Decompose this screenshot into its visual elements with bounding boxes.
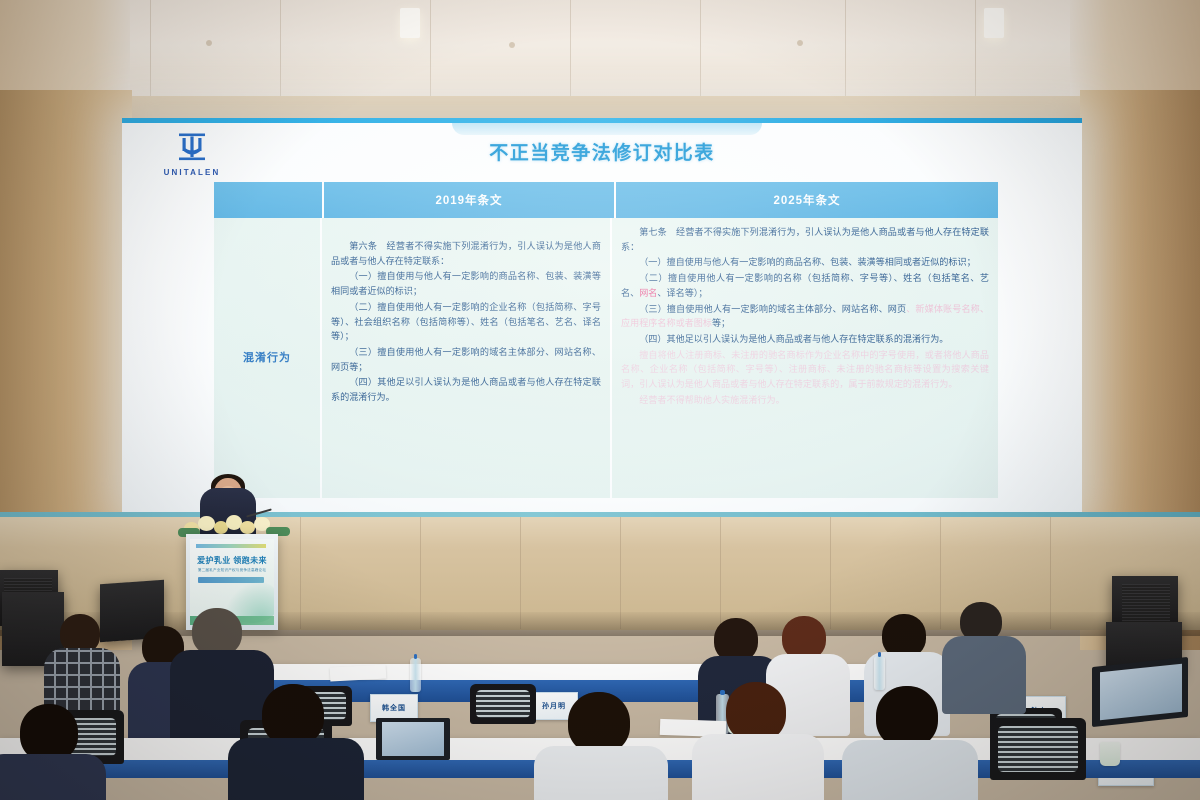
unitalen-wordmark: UNITALEN	[150, 168, 234, 177]
projection-screen: UNITALEN 不正当竞争法修订对比表 2019年条文 2025年条文 混淆行…	[122, 118, 1082, 512]
water-bottle	[410, 658, 421, 692]
slide-top-curve	[452, 123, 762, 135]
table-header-row: 2019年条文 2025年条文	[214, 182, 998, 218]
ceiling-downlight	[984, 8, 1004, 38]
conference-photo: UNITALEN 不正当竞争法修订对比表 2019年条文 2025年条文 混淆行…	[0, 0, 1200, 800]
table-cell-2019: 第六条 经营者不得实施下列混淆行为，引人误认为是他人商品或者与他人存在特定联系：…	[322, 218, 612, 498]
table-row-label-cell: 混淆行为	[214, 218, 322, 498]
para-2019-3: （三）擅自使用他人有一定影响的域名主体部分、网站名称、网页等；	[331, 346, 601, 375]
paper-cup	[1100, 742, 1120, 766]
para-2025-added-1: 擅自将他人注册商标、未注册的驰名商标作为企业名称中的字号使用，或者将他人商品名称…	[621, 349, 989, 393]
water-bottle	[874, 656, 885, 690]
table-header-blank	[214, 182, 324, 218]
row-label-confusion: 混淆行为	[243, 349, 291, 365]
para-2025-item2-highlight: 网名	[639, 289, 657, 299]
para-2025-item2: （二）擅自使用他人有一定影响的名称（包括简称、字号等）、姓名（包括笔名、艺名、网…	[621, 272, 989, 301]
slide-title: 不正当竞争法修订对比表	[122, 138, 1082, 165]
table-header-2019: 2019年条文	[324, 182, 616, 218]
para-2025-item3-b: 等；	[712, 319, 730, 329]
para-2019-0: 第六条 经营者不得实施下列混淆行为，引人误认为是他人商品或者与他人存在特定联系：	[331, 240, 601, 269]
para-2025-item4: （四）其他足以引人误认为是他人商品或者与他人存在特定联系的混淆行为。	[621, 333, 989, 348]
para-2025-added-2: 经营者不得帮助他人实施混淆行为。	[621, 394, 989, 409]
para-2025-item3-a: （三）擅自使用他人有一定影响的域名主体部分、网站名称、网页	[639, 305, 906, 315]
table-row: 混淆行为 第六条 经营者不得实施下列混淆行为，引人误认为是他人商品或者与他人存在…	[214, 218, 998, 498]
para-2025-item3: （三）擅自使用他人有一定影响的域名主体部分、网站名称、网页、新媒体账号名称、应用…	[621, 303, 989, 332]
comparison-table: 2019年条文 2025年条文 混淆行为 第六条 经营者不得实施下列混淆行为，引…	[214, 182, 998, 498]
table-cell-2025: 第七条 经营者不得实施下列混淆行为，引人误认为是他人商品或者与他人存在特定联系：…	[612, 218, 998, 498]
para-2025-item2-b: 、译名等）；	[657, 289, 707, 299]
para-2025-item1: （一）擅自使用与他人有一定影响的商品名称、包装、装潢等相同或者近似的标识；	[621, 256, 989, 271]
podium-banner-title: 爱护乳业 领跑未来	[190, 555, 274, 566]
podium-banner-subtitle: 第二届乳产业知识产权与竞争法高峰论坛	[190, 568, 274, 573]
ceiling-downlight	[400, 8, 420, 38]
para-2019-2: （二）擅自使用他人有一定影响的企业名称（包括简称、字号等）、社会组织名称（包括简…	[331, 301, 601, 345]
document-paper	[330, 665, 387, 682]
audience-area: 国家乳业技术创新中心 国家乳业技术创新中心知识产权中心 内蒙古伊利实业集团股份有…	[0, 600, 1200, 800]
para-2019-4: （四）其他足以引人误认为是他人商品或者与他人存在特定联系的混淆行为。	[331, 376, 601, 405]
table-header-2025: 2025年条文	[616, 182, 998, 218]
para-2019-1: （一）擅自使用与他人有一定影响的商品名称、包装、装潢等相同或者近似的标识；	[331, 270, 601, 299]
para-2025-intro: 第七条 经营者不得实施下列混淆行为，引人误认为是他人商品或者与他人存在特定联系：	[621, 226, 989, 255]
